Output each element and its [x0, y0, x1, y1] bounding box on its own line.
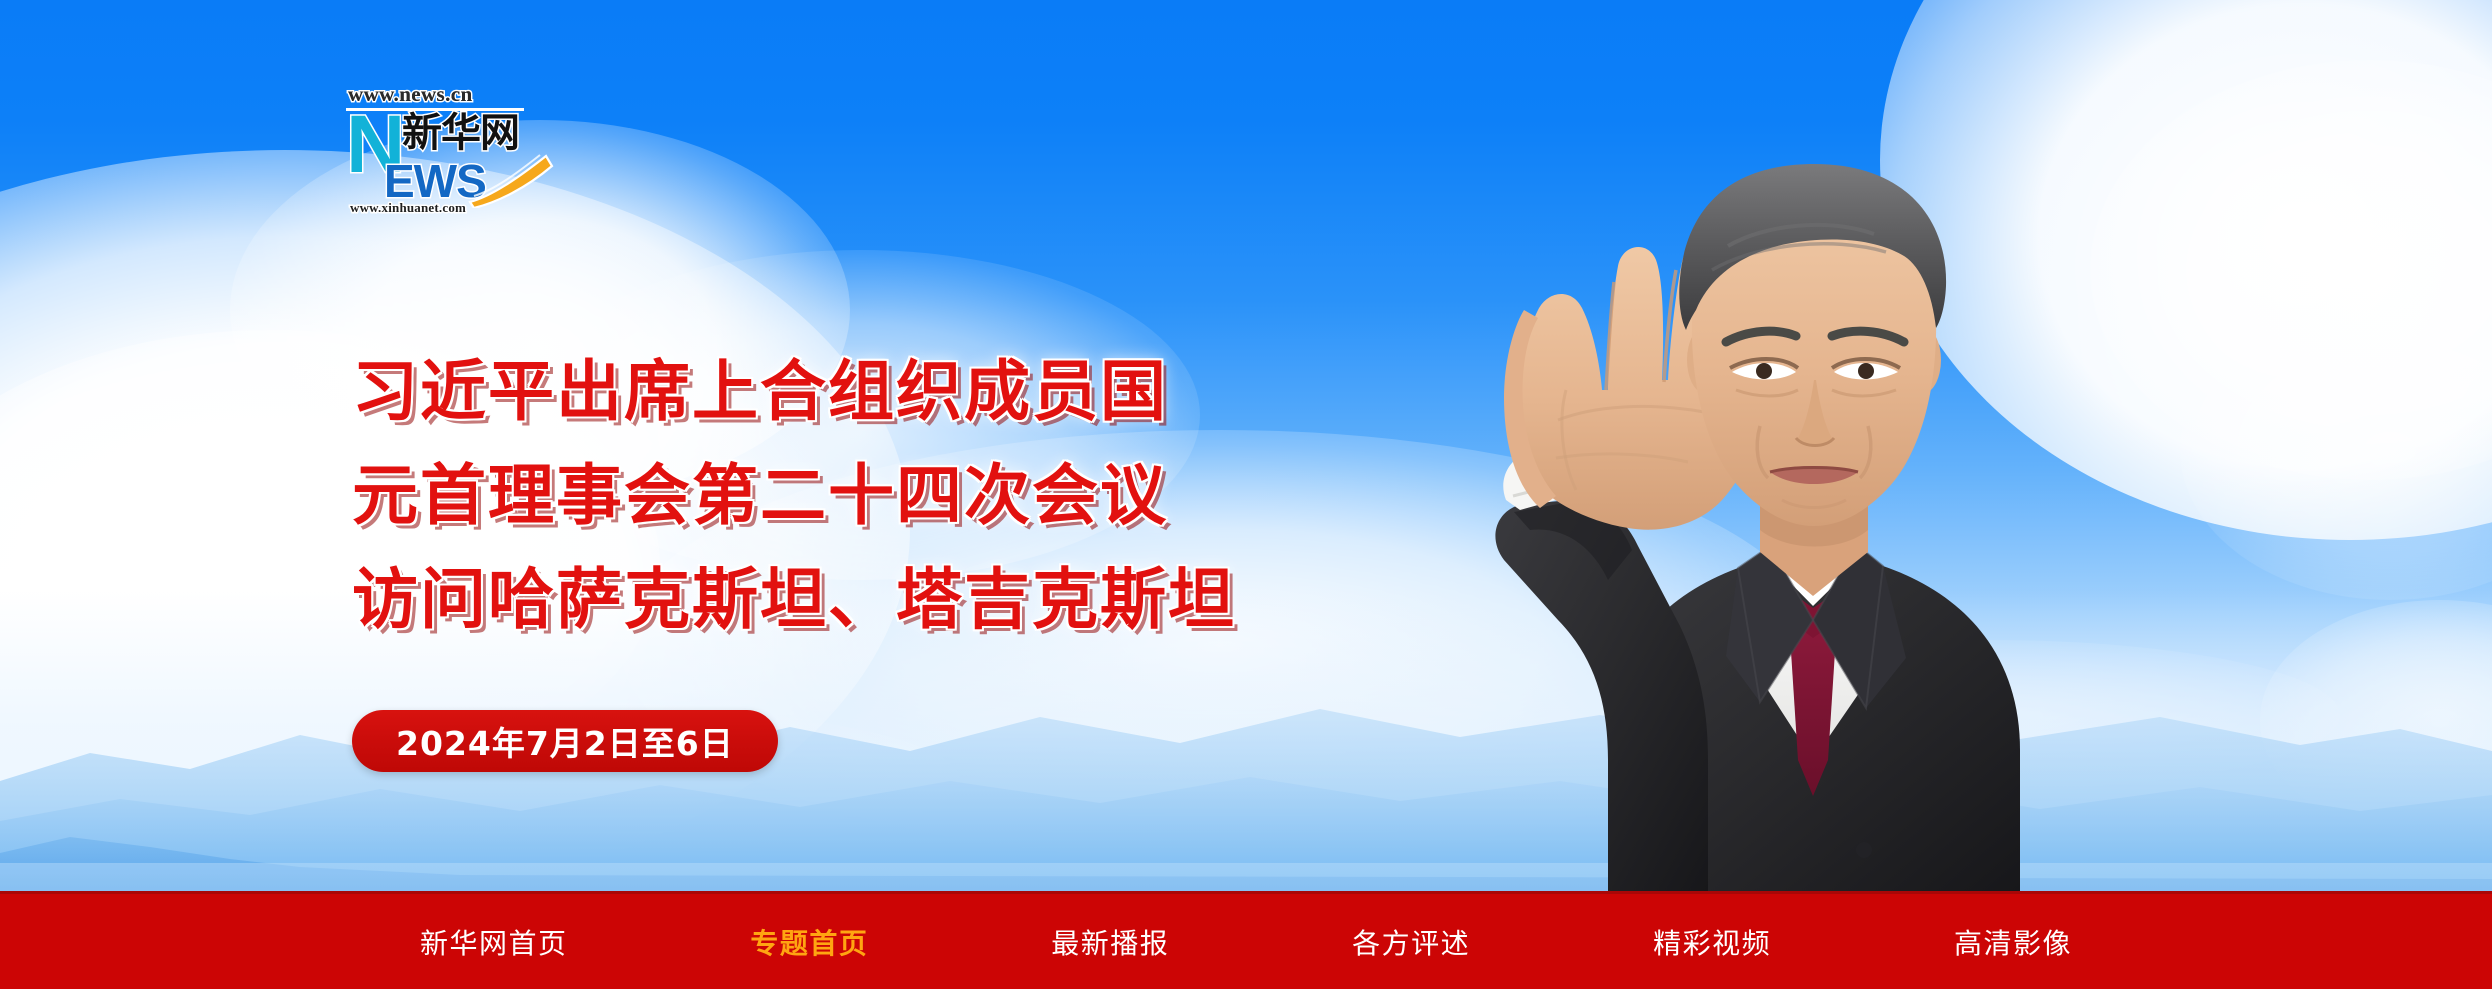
logo-url-bottom: www.xinhuanet.com: [350, 200, 466, 216]
nav-item-hd-images[interactable]: 高清影像: [1954, 922, 2072, 962]
nav-item-latest-news[interactable]: 最新播报: [1051, 922, 1169, 962]
date-badge: 2024年7月2日至6日: [352, 710, 778, 772]
news-special-topic-banner: www.news.cn www.news.cn N 新华网 EWS www.xi…: [0, 0, 2492, 989]
cloud-right-mid: [2090, 60, 2492, 480]
nav-item-xinhua-home[interactable]: 新华网首页: [420, 922, 568, 962]
date-badge-label: 2024年7月2日至6日: [396, 717, 734, 765]
logo-swoosh-icon: [468, 152, 554, 208]
logo-chinese-name: 新华网: [402, 112, 519, 154]
topic-navigation-bar: 新华网首页 专题首页 最新播报 各方评述 精彩视频 高清影像: [0, 891, 2492, 989]
nav-item-topic-home[interactable]: 专题首页: [750, 922, 868, 962]
xinhua-news-logo[interactable]: www.news.cn www.news.cn N 新华网 EWS www.xi…: [340, 82, 540, 210]
official-portrait-image: [1308, 60, 2068, 891]
cloud-right-wisp: [2180, 300, 2492, 600]
nav-items-container: 新华网首页 专题首页 最新播报 各方评述 精彩视频 高清影像: [0, 922, 2492, 962]
nav-item-commentary[interactable]: 各方评述: [1352, 922, 1470, 962]
headline-line-1: 习近平出席上合组织成员国: [352, 340, 1472, 444]
headline-line-3: 访问哈萨克斯坦、塔吉克斯坦: [352, 548, 1472, 652]
headline-line-2: 元首理事会第二十四次会议: [352, 444, 1472, 548]
headline-block: 习近平出席上合组织成员国 元首理事会第二十四次会议 访问哈萨克斯坦、塔吉克斯坦: [352, 340, 1472, 652]
nav-item-videos[interactable]: 精彩视频: [1653, 922, 1771, 962]
